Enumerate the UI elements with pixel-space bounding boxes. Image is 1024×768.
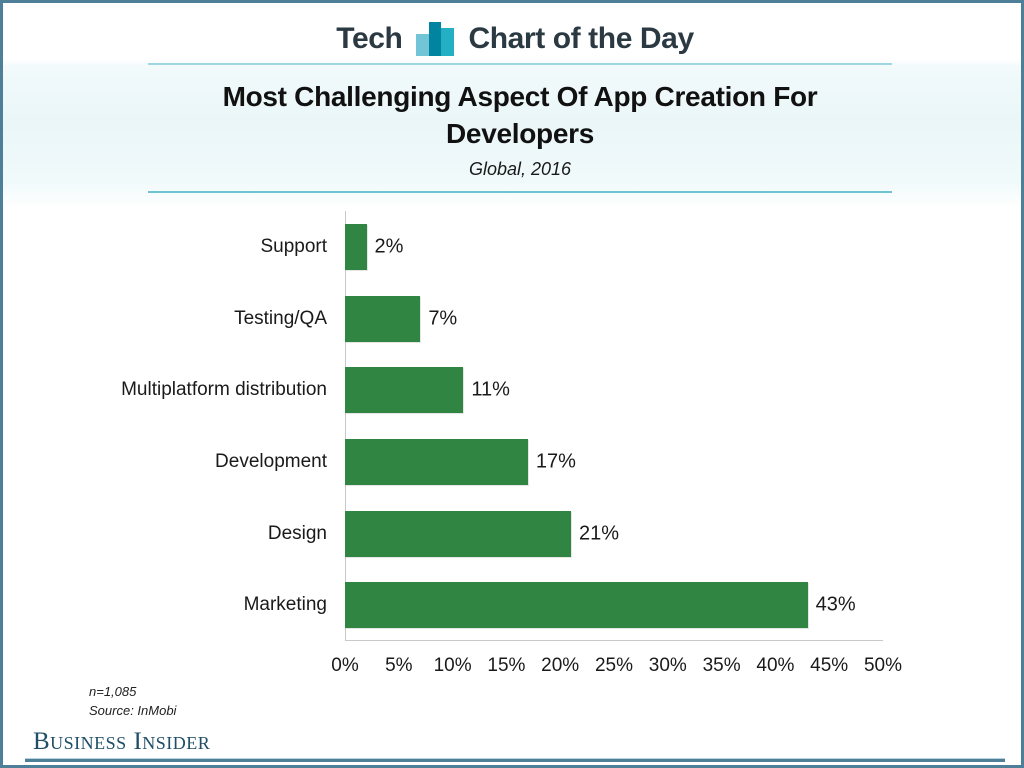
category-label: Design [268,523,327,545]
footer-divider [25,758,1005,762]
y-axis-line [345,211,346,641]
brand-header: Tech Chart of the Day [3,17,1024,61]
chart-area: Support2%Testing/QA7%Multiplatform distr… [3,199,1024,699]
x-axis-line [345,640,883,641]
x-axis-tick-label: 15% [487,655,525,677]
category-label: Development [215,451,327,473]
category-label: Multiplatform distribution [121,379,327,401]
x-axis-tick-label: 0% [331,655,358,677]
bar [345,367,463,413]
bar-chart-logo-icon [416,22,454,56]
sample-size-note: n=1,085 [89,683,176,702]
bar [345,439,528,485]
x-axis-tick-label: 25% [595,655,633,677]
bar-value-label: 21% [579,522,619,545]
bar-row: Support2% [345,224,883,270]
footnote-block: n=1,085 Source: InMobi [89,683,176,721]
title-divider-top [148,63,892,65]
bar-row: Development17% [345,439,883,485]
bar [345,224,367,270]
bar [345,511,571,557]
category-label: Marketing [244,594,327,616]
title-block: Most Challenging Aspect Of App Creation … [148,69,892,189]
brand-tagline-label: Chart of the Day [468,24,693,54]
category-label: Testing/QA [234,308,327,330]
x-axis-tick-label: 35% [703,655,741,677]
source-note: Source: InMobi [89,702,176,721]
title-divider-bottom [148,191,892,193]
page-background: Tech Chart of the Day Most Challenging A… [3,3,1021,765]
bar-value-label: 17% [536,450,576,473]
bar-row: Marketing43% [345,582,883,628]
bar-row: Design21% [345,511,883,557]
x-axis-tick-label: 5% [385,655,412,677]
x-axis-tick-label: 45% [810,655,848,677]
bar-value-label: 7% [428,307,457,330]
plot-region: Support2%Testing/QA7%Multiplatform distr… [345,211,883,641]
logo-bar-1 [416,34,429,56]
logo-bar-3 [441,28,454,56]
bar-row: Multiplatform distribution11% [345,367,883,413]
bar [345,296,420,342]
x-axis-tick-label: 50% [864,655,902,677]
bar [345,582,808,628]
chart-page: Tech Chart of the Day Most Challenging A… [0,0,1024,768]
logo-bar-2 [429,22,441,56]
x-axis-tick-label: 30% [649,655,687,677]
bar-value-label: 43% [816,594,856,617]
bar-value-label: 11% [471,379,510,402]
business-insider-logo: Business Insider [33,729,210,754]
brand-vertical-label: Tech [336,24,402,54]
bar-value-label: 2% [375,235,404,258]
x-axis-tick-label: 40% [756,655,794,677]
category-label: Support [260,236,327,258]
bar-row: Testing/QA7% [345,296,883,342]
chart-subtitle: Global, 2016 [148,159,892,180]
x-axis-tick-label: 10% [434,655,472,677]
chart-title: Most Challenging Aspect Of App Creation … [148,79,892,153]
x-axis-tick-label: 20% [541,655,579,677]
